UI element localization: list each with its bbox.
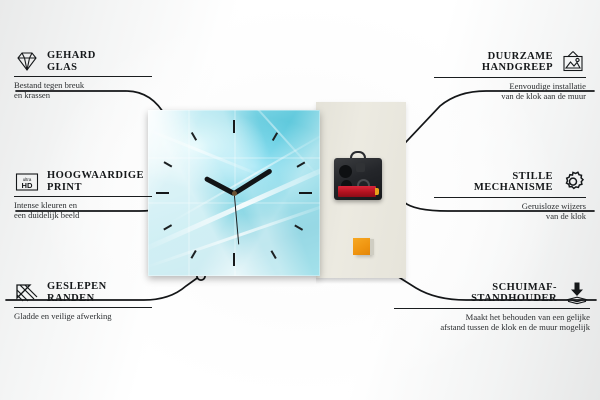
- feather-streak: [148, 121, 274, 182]
- clock-tick-minor: [272, 132, 278, 141]
- feature-heading: GEHARD GLAS: [14, 50, 152, 73]
- feature-divider: [14, 76, 152, 77]
- desc-line: Bestand tegen breuk: [14, 80, 152, 90]
- feature-geslepen-randen: GESLEPEN RANDEN Gladde en veilige afwerk…: [14, 281, 152, 321]
- title-line: RANDEN: [47, 293, 107, 305]
- clock-tick-minor: [295, 225, 304, 231]
- desc-line: Eenvoudige installatie: [434, 81, 586, 91]
- feature-divider: [434, 77, 586, 78]
- infographic-canvas: GEHARD GLAS Bestand tegen breuk en krass…: [0, 0, 600, 400]
- clock-tick-minor: [191, 132, 197, 141]
- feature-title: SCHUIMAF- STANDHOUDER: [471, 282, 557, 305]
- feature-title: GEHARD GLAS: [47, 50, 96, 73]
- feature-hoogwaardige-print: ultra HD HOOGWAARDIGE PRINT Intense kleu…: [14, 170, 152, 221]
- desc-line: Geruisloze wijzers: [434, 201, 586, 211]
- feature-title: STILLE MECHANISME: [474, 171, 553, 194]
- feature-heading: STILLE MECHANISME: [434, 170, 586, 194]
- title-line: GEHARD: [47, 50, 96, 62]
- desc-line: afstand tussen de klok en de muur mogeli…: [394, 322, 590, 332]
- feature-stille-mechanisme: STILLE MECHANISME Geruisloze wijzers van…: [434, 170, 586, 222]
- title-line: GESLEPEN: [47, 281, 107, 293]
- desc-line: Gladde en veilige afwerking: [14, 311, 152, 321]
- feature-description: Eenvoudige installatie van de klok aan d…: [434, 81, 586, 102]
- ultra-hd-icon-main-text: HD: [22, 181, 33, 190]
- movement-dial: [339, 165, 352, 178]
- clock-tick-minor: [164, 162, 173, 168]
- feature-description: Gladde en veilige afwerking: [14, 311, 152, 321]
- clock-tick-minor: [297, 162, 306, 168]
- feature-schuimaf-standhouder: SCHUIMAF- STANDHOUDER Maakt het behouden…: [394, 281, 590, 333]
- feature-description: Bestand tegen breuk en krassen: [14, 80, 152, 101]
- clock-tick-minor: [271, 250, 277, 259]
- title-line: PRINT: [47, 182, 144, 194]
- hanging-picture-icon: [560, 50, 586, 74]
- title-line: DUURZAME: [482, 51, 553, 63]
- feature-title: HOOGWAARDIGE PRINT: [47, 170, 144, 193]
- feature-title: DUURZAME HANDGREEP: [482, 51, 553, 74]
- feature-heading: ultra HD HOOGWAARDIGE PRINT: [14, 170, 152, 193]
- clock-center-cap: [232, 191, 237, 196]
- title-line: STANDHOUDER: [471, 293, 557, 305]
- feature-title: GESLEPEN RANDEN: [47, 281, 107, 304]
- clock-tick-9: [156, 192, 169, 194]
- feature-heading: GESLEPEN RANDEN: [14, 281, 152, 304]
- feature-description: Maakt het behouden van een gelijke afsta…: [394, 312, 590, 333]
- desc-line: Intense kleuren en: [14, 200, 152, 210]
- movement-housing: [334, 158, 382, 200]
- diamond-icon: [14, 51, 40, 73]
- clock-tick-minor: [164, 225, 173, 231]
- glass-reflection-line: [148, 157, 320, 159]
- feature-heading: SCHUIMAF- STANDHOUDER: [394, 281, 590, 305]
- feature-divider: [14, 307, 152, 308]
- feature-gehard-glas: GEHARD GLAS Bestand tegen breuk en krass…: [14, 50, 152, 101]
- product-image: [148, 110, 398, 280]
- title-line: STILLE: [474, 171, 553, 183]
- feature-description: Intense kleuren en een duidelijk beeld: [14, 200, 152, 221]
- feature-divider: [434, 197, 586, 198]
- quartz-movement: [334, 158, 382, 200]
- foam-spacer-pad: [353, 238, 370, 255]
- gear-icon: [560, 170, 586, 194]
- clock-tick-3: [299, 192, 312, 194]
- feature-description: Geruisloze wijzers van de klok: [434, 201, 586, 222]
- clock-tick-6: [233, 253, 235, 266]
- title-line: HOOGWAARDIGE: [47, 170, 144, 182]
- desc-line: van de klok: [434, 211, 586, 221]
- foam-spacer-icon: [564, 281, 590, 305]
- title-line: SCHUIMAF-: [471, 282, 557, 294]
- ultra-hd-icon: ultra HD: [14, 171, 40, 193]
- feature-heading: DUURZAME HANDGREEP: [434, 50, 586, 74]
- desc-line: Maakt het behouden van een gelijke: [394, 312, 590, 322]
- battery: [338, 186, 376, 197]
- title-line: MECHANISME: [474, 182, 553, 194]
- movement-dial: [356, 163, 365, 172]
- polished-edges-icon: [14, 282, 40, 304]
- feature-duurzame-handgreep: DUURZAME HANDGREEP Eenvoudige installati…: [434, 50, 586, 102]
- glass-reflection-line: [188, 110, 190, 276]
- feature-divider: [14, 196, 152, 197]
- title-line: HANDGREEP: [482, 62, 553, 74]
- clock-glass-face: [148, 110, 320, 276]
- title-line: GLAS: [47, 62, 96, 74]
- clock-tick-12: [233, 120, 235, 133]
- desc-line: van de klok aan de muur: [434, 91, 586, 101]
- desc-line: een duidelijk beeld: [14, 210, 152, 220]
- feature-divider: [394, 308, 590, 309]
- desc-line: en krassen: [14, 90, 152, 100]
